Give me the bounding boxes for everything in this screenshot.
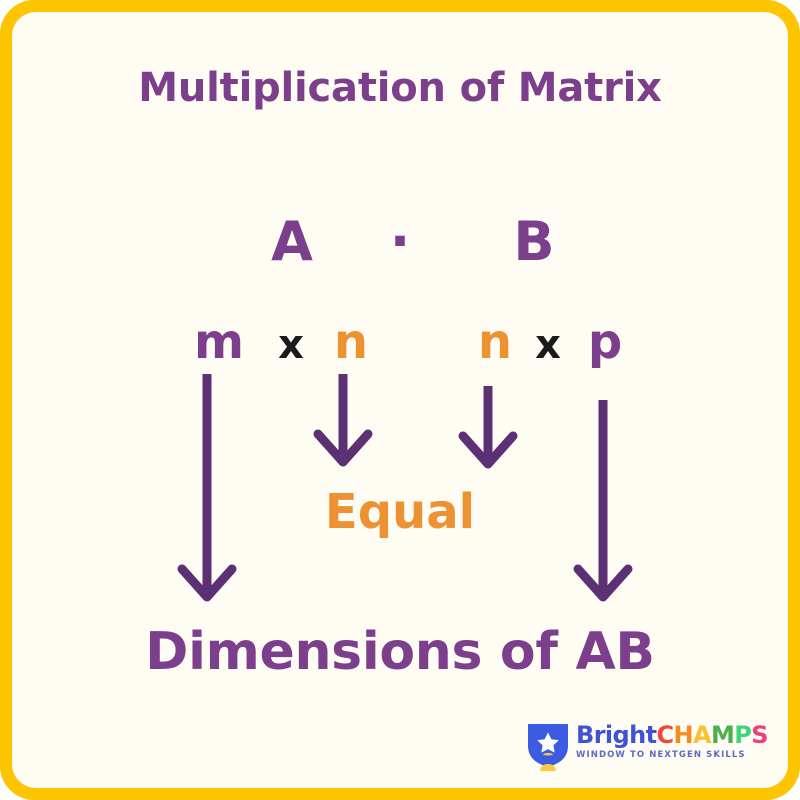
- matrix-operands-row: A · B: [12, 212, 788, 292]
- logo-brand-letter: S: [751, 721, 768, 749]
- logo-brand-letter: C: [657, 721, 674, 749]
- dimension-b-times-symbol: x: [517, 316, 579, 374]
- dimension-a-rows: m: [188, 314, 250, 370]
- arrow-from-n-left-icon: [318, 374, 368, 462]
- logo-brand-letter: H: [674, 721, 694, 749]
- diagram-canvas: Multiplication of Matrix A · B m x n n x…: [12, 12, 788, 788]
- logo-wordmark: BrightCHAMPS: [576, 722, 766, 748]
- brightchamps-logo[interactable]: BrightCHAMPS WINDOW TO NEXTGEN SKILLS: [512, 714, 772, 776]
- logo-brand-second: CHAMPS: [657, 721, 768, 749]
- shield-star-icon: [524, 720, 572, 772]
- dimension-b-cols: p: [574, 314, 636, 370]
- logo-brand-letter: P: [734, 721, 751, 749]
- dimension-a-cols: n: [320, 314, 382, 370]
- dimensions-row: m x n n x p: [12, 314, 788, 378]
- page-title: Multiplication of Matrix: [12, 65, 788, 111]
- logo-brand-letter: A: [693, 721, 711, 749]
- logo-brand-first: Bright: [576, 721, 657, 749]
- matrix-b-label: B: [504, 212, 564, 272]
- dimension-a-times-symbol: x: [260, 316, 322, 374]
- multiplication-dot-operator: ·: [370, 212, 430, 272]
- diagram-card: Multiplication of Matrix A · B m x n n x…: [0, 0, 800, 800]
- equal-label: Equal: [12, 484, 788, 540]
- logo-brand-letter: M: [711, 721, 734, 749]
- result-label: Dimensions of AB: [12, 622, 788, 682]
- arrow-from-n-right-icon: [463, 386, 513, 464]
- logo-text-block: BrightCHAMPS WINDOW TO NEXTGEN SKILLS: [576, 722, 766, 760]
- matrix-a-label: A: [262, 212, 322, 272]
- logo-tagline: WINDOW TO NEXTGEN SKILLS: [576, 750, 766, 760]
